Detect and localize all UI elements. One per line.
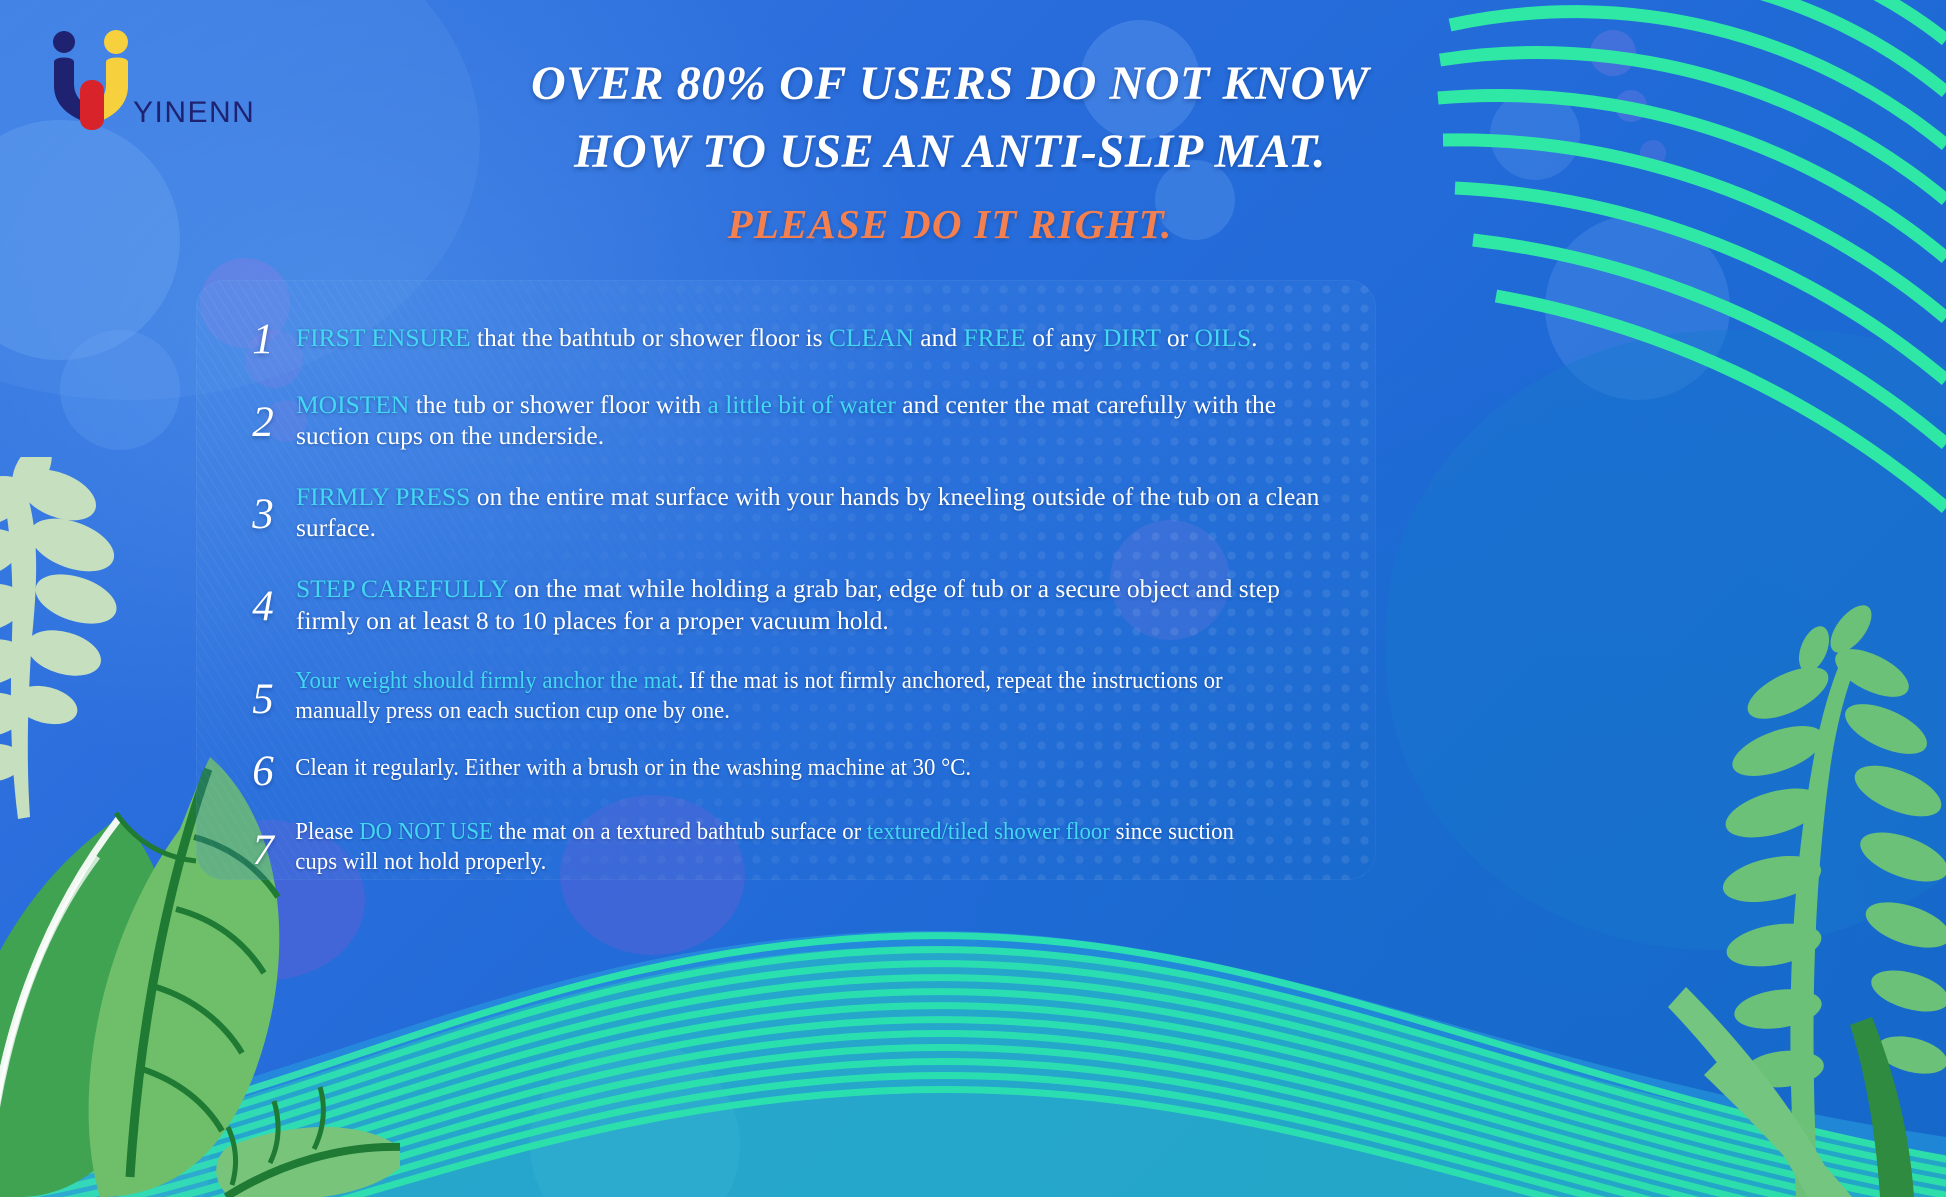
brand-logo: YINENN — [40, 28, 290, 138]
brand-wordmark: YINENN — [133, 96, 255, 130]
highlighted-phrase: FIRST ENSURE — [296, 323, 471, 352]
title-line-2: HOW TO USE AN ANTI-SLIP MAT. — [300, 118, 1600, 186]
highlighted-phrase: MOISTEN — [296, 390, 409, 419]
instruction-phrase: Clean it regularly. Either with a brush … — [295, 754, 971, 781]
instruction-number: 6 — [240, 750, 286, 793]
instructions-list: 1FIRST ENSURE that the bathtub or shower… — [196, 294, 1376, 877]
instruction-number: 1 — [240, 318, 286, 361]
highlighted-phrase: FIRMLY PRESS — [296, 482, 470, 511]
highlighted-phrase: a little bit of water — [708, 390, 896, 419]
instruction-item: 7Please DO NOT USE the mat on a textured… — [196, 817, 1376, 877]
instruction-text: Clean it regularly. Either with a brush … — [286, 753, 1263, 783]
highlighted-phrase: DO NOT USE — [359, 818, 493, 845]
instruction-item: 1FIRST ENSURE that the bathtub or shower… — [196, 322, 1376, 361]
title-line-1: OVER 80% OF USERS DO NOT KNOW — [300, 50, 1600, 118]
instruction-item: 6Clean it regularly. Either with a brush… — [196, 753, 1376, 793]
highlighted-phrase: FREE — [963, 323, 1025, 352]
instruction-phrase: that the bathtub or shower floor is — [471, 323, 829, 352]
instruction-text: FIRMLY PRESS on the entire mat surface w… — [286, 481, 1336, 543]
instruction-item: 2MOISTEN the tub or shower floor with a … — [196, 389, 1376, 451]
instruction-number: 2 — [240, 401, 286, 444]
instruction-text: Please DO NOT USE the mat on a textured … — [286, 817, 1263, 877]
instruction-phrase: the mat on a textured bathtub surface or — [493, 818, 867, 845]
instruction-text: FIRST ENSURE that the bathtub or shower … — [286, 322, 1258, 353]
highlighted-phrase: OILS — [1195, 323, 1252, 352]
instruction-number: 7 — [240, 829, 286, 872]
highlighted-phrase: STEP CAREFULLY — [296, 574, 508, 603]
instruction-text: MOISTEN the tub or shower floor with a l… — [286, 389, 1336, 451]
instruction-number: 4 — [240, 585, 286, 628]
highlighted-phrase: Your weight should firmly anchor the mat — [295, 667, 677, 694]
instruction-phrase: Please — [295, 818, 359, 845]
wave-ribbon-icon — [0, 837, 1946, 1197]
instruction-item: 5Your weight should firmly anchor the ma… — [196, 666, 1376, 726]
instruction-phrase: the tub or shower floor with — [409, 390, 707, 419]
instruction-phrase: or — [1161, 323, 1195, 352]
instructions-panel: 1FIRST ENSURE that the bathtub or shower… — [196, 280, 1376, 880]
instruction-item: 3FIRMLY PRESS on the entire mat surface … — [196, 481, 1376, 543]
highlighted-phrase: CLEAN — [829, 323, 914, 352]
highlighted-phrase: textured/tiled shower floor — [867, 818, 1110, 845]
instruction-number: 3 — [240, 493, 286, 536]
highlighted-phrase: DIRT — [1103, 323, 1161, 352]
instruction-phrase: of any — [1026, 323, 1103, 352]
instruction-item: 4STEP CAREFULLY on the mat while holding… — [196, 573, 1376, 635]
instruction-text: STEP CAREFULLY on the mat while holding … — [286, 573, 1336, 635]
instruction-phrase: . — [1251, 323, 1257, 352]
instruction-number: 5 — [240, 678, 286, 721]
poster-canvas: YINENN OVER 80% OF USERS DO NOT KNOW HOW… — [0, 0, 1946, 1197]
page-subtitle: PLEASE DO IT RIGHT. — [300, 200, 1600, 248]
instruction-text: Your weight should firmly anchor the mat… — [286, 666, 1263, 726]
page-title: OVER 80% OF USERS DO NOT KNOW HOW TO USE… — [300, 50, 1600, 186]
instruction-phrase: and — [914, 323, 964, 352]
